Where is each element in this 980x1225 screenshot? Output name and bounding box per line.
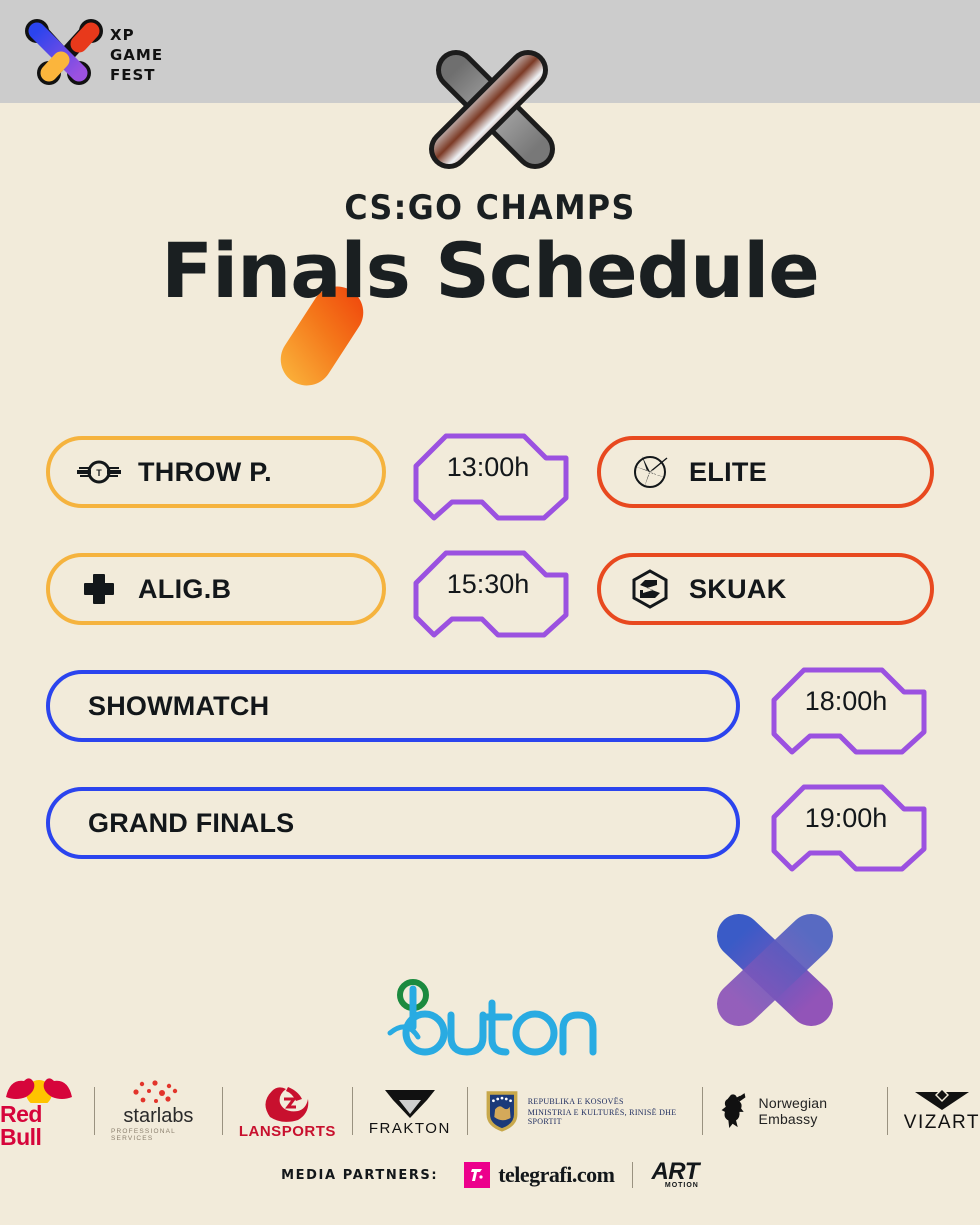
starlabs-dots-icon [122, 1080, 194, 1106]
sponsor-starlabs: starlabs PROFESSIONAL SERVICES [111, 1075, 206, 1147]
sponsor-divider [352, 1087, 353, 1135]
team-name-right-2: SKUAK [689, 574, 787, 605]
time-badge-2: 15:30h [406, 537, 576, 645]
time-label-1: 13:00h [406, 420, 576, 528]
time-badge-4: 19:00h [764, 771, 934, 879]
sponsor-vizart: VIZART [904, 1075, 980, 1147]
sponsor-name-lansports: LANSPORTS [239, 1123, 336, 1140]
media-partner-name-telegrafi: telegrafi.com [498, 1162, 614, 1188]
sponsor-red-bull: Red Bull [0, 1075, 78, 1147]
xp-wordmark-line1: XP [110, 26, 135, 44]
svg-text:T: T [96, 468, 102, 478]
team-name-left-1: THROW P. [138, 457, 272, 488]
schedule-row-4: GRAND FINALS 19:00h [0, 787, 980, 863]
schedule-row-1: T THROW P. 13:00h ELITE [0, 436, 980, 512]
sponsor-kosovo-ministry: REPUBLIKA E KOSOVËS MINISTRIA E KULTURËS… [484, 1075, 687, 1147]
sponsor-name-starlabs: starlabs [123, 1106, 193, 1126]
sponsor-name-red-bull: Red Bull [0, 1103, 78, 1149]
poster-canvas: XP GAME FEST [0, 0, 980, 1225]
schedule-row-3: SHOWMATCH 18:00h [0, 670, 980, 746]
decorative-x-mark [713, 912, 837, 1026]
media-partner-sub-artmotion: MOTION [665, 1182, 699, 1189]
sponsor-tagline-starlabs: PROFESSIONAL SERVICES [111, 1128, 206, 1142]
xp-x-mark [25, 19, 103, 85]
frakton-chevron-icon [381, 1086, 439, 1120]
winged-circle-t-icon: T [76, 452, 122, 492]
event-label-showmatch: SHOWMATCH [88, 691, 269, 722]
time-badge-1: 13:00h [406, 420, 576, 528]
compass-star-icon: ELITE [627, 452, 673, 492]
media-partners-row: MEDIA PARTNERS: telegrafi.com ART MOTION [0, 1155, 980, 1195]
time-label-3: 18:00h [764, 654, 934, 762]
kosovo-crest-icon [484, 1085, 520, 1137]
hexagon-s-icon [627, 569, 673, 609]
schedule-row-2: ALIG.B 15:30h SKUAK [0, 553, 980, 629]
team-pill-right-1[interactable]: ELITE ELITE [597, 436, 934, 508]
team-pill-left-2[interactable]: ALIG.B [46, 553, 386, 625]
time-label-2: 15:30h [406, 537, 576, 645]
xp-wordmark-line2: GAME [110, 46, 163, 64]
media-partner-telegrafi: telegrafi.com [464, 1139, 614, 1211]
event-pill-showmatch[interactable]: SHOWMATCH [46, 670, 740, 742]
team-pill-right-2[interactable]: SKUAK [597, 553, 934, 625]
sponsor-name-norwegian-embassy: Norwegian Embassy [759, 1095, 871, 1127]
sponsor-norwegian-embassy: Norwegian Embassy [719, 1075, 870, 1147]
sponsor-name-kosovo-line1: REPUBLIKA E KOSOVËS [528, 1097, 687, 1106]
plus-cross-icon [76, 569, 122, 609]
time-badge-3: 18:00h [764, 654, 934, 762]
lansports-icon [258, 1083, 316, 1123]
svg-text:ELITE: ELITE [642, 471, 659, 477]
sponsor-name-vizart: VIZART [904, 1112, 980, 1134]
event-label-grand-finals: GRAND FINALS [88, 808, 294, 839]
page-kicker: CS:GO CHAMPS [34, 188, 945, 228]
media-partner-artmotion: ART MOTION [651, 1139, 698, 1211]
buton-sponsor-logo [385, 975, 600, 1060]
media-divider [632, 1162, 633, 1188]
sponsor-divider [887, 1087, 888, 1135]
team-name-left-2: ALIG.B [138, 574, 231, 605]
sponsor-divider [702, 1087, 703, 1135]
sponsor-name-frakton: FRAKTON [369, 1120, 451, 1137]
redbull-icon [0, 1073, 78, 1103]
team-pill-left-1[interactable]: T THROW P. [46, 436, 386, 508]
xp-wordmark-line3: FEST [110, 66, 156, 84]
team-name-right-1: ELITE [689, 457, 767, 488]
media-partners-label: MEDIA PARTNERS: [281, 1168, 438, 1183]
vizart-chevron-icon [913, 1088, 971, 1112]
sponsor-divider [467, 1087, 468, 1135]
media-partner-name-artmotion: ART [651, 1161, 698, 1183]
event-pill-grand-finals[interactable]: GRAND FINALS [46, 787, 740, 859]
norway-lion-icon [719, 1088, 746, 1134]
xp-game-fest-logo: XP GAME FEST [22, 18, 202, 88]
sponsor-name-kosovo-line2: MINISTRIA E KULTURËS, RINISË DHE SPORTIT [528, 1108, 687, 1126]
sponsor-divider [222, 1087, 223, 1135]
telegrafi-icon [464, 1162, 490, 1188]
chrome-x-emblem [418, 42, 563, 187]
sponsor-lansports: LANSPORTS [239, 1075, 336, 1147]
sponsor-divider [94, 1087, 95, 1135]
time-label-4: 19:00h [764, 771, 934, 879]
page-title: Finals Schedule [0, 226, 980, 315]
sponsor-frakton: FRAKTON [369, 1075, 451, 1147]
